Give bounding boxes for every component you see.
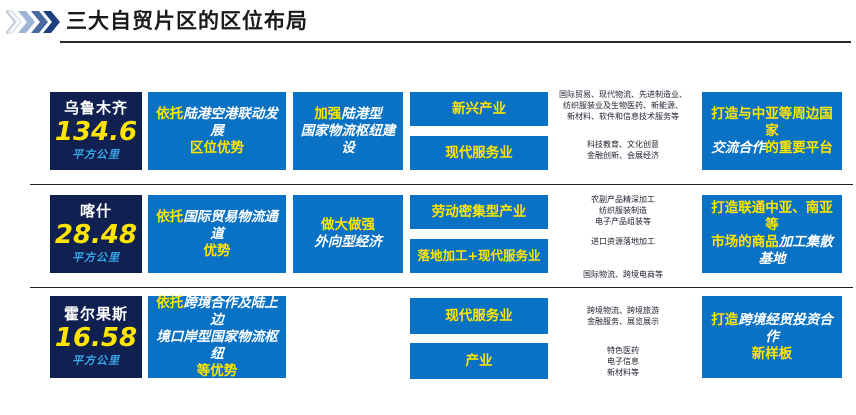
goal-mid: 交流合作 <box>711 140 765 156</box>
advantage-card-kashgar[interactable]: 依托国际贸易物流通道 优势 <box>148 195 286 273</box>
sector-card-horgos-2[interactable]: 产业 <box>410 343 548 379</box>
zone-card-horgos[interactable]: 霍尔果斯 16.58 平方公里 <box>50 296 142 378</box>
advantage-rest: 国际贸易物流通道 <box>183 209 278 242</box>
goal-lead: 打造与中亚等周边国家 <box>711 106 833 139</box>
sector-desc-horgos-1: 跨境物流、跨境旅游金融服务、展览展示 <box>548 305 698 327</box>
zone-card-urumqi[interactable]: 乌鲁木齐 134.6 平方公里 <box>50 92 142 170</box>
strategy-rest: 陆港型 <box>341 106 382 122</box>
row-separator-2 <box>30 287 853 288</box>
sector-label: 现代服务业 <box>439 145 519 162</box>
sector-desc-urumqi-2: 科技教育、文化创意金融创新、会展经济 <box>548 139 698 161</box>
strategy-line2: 国家物流枢纽建设 <box>301 123 396 156</box>
strategy-lead: 做大做强 <box>321 217 375 233</box>
zone-area-value: 16.58 <box>55 323 137 353</box>
advantage-line2: 区位优势 <box>190 140 244 156</box>
page-title: 三大自贸片区的区位布局 <box>66 6 308 36</box>
goal-tail: 新样板 <box>752 346 793 362</box>
page-header: 三大自贸片区的区位布局 <box>0 0 856 52</box>
sector-label: 新兴产业 <box>446 101 512 118</box>
goal-lead: 打造 <box>711 312 738 328</box>
zone-city-name: 喀什 <box>80 202 112 220</box>
advantage-rest: 跨境合作及陆上边 <box>183 295 278 328</box>
goal-mid: 跨境经贸投资合作 <box>738 312 833 345</box>
sector-label: 劳动密集型产业 <box>426 204 533 221</box>
sector-label: 落地加工+现代服务业 <box>412 248 547 264</box>
goal-card-urumqi[interactable]: 打造与中亚等周边国家 交流合作的重要平台 <box>702 92 842 170</box>
sector-card-kashgar-2[interactable]: 落地加工+现代服务业 <box>410 239 548 273</box>
zone-card-kashgar[interactable]: 喀什 28.48 平方公里 <box>50 195 142 273</box>
row-separator-1 <box>30 184 853 185</box>
advantage-lead: 依托 <box>156 295 183 311</box>
sector-card-horgos-1[interactable]: 现代服务业 <box>410 298 548 334</box>
advantage-card-urumqi[interactable]: 依托陆港空港联动发展 区位优势 <box>148 92 286 170</box>
strategy-card-kashgar[interactable]: 做大做强 外向型经济 <box>293 195 403 273</box>
sector-desc-kashgar-1: 农副产品精深加工纺织服装制造电子产品组装等 <box>548 194 698 227</box>
zone-city-name: 霍尔果斯 <box>64 305 128 323</box>
advantage-lead: 依托 <box>156 209 183 225</box>
strategy-line2: 外向型经济 <box>314 234 382 250</box>
strategy-card-urumqi[interactable]: 加强陆港型 国家物流枢纽建设 <box>293 92 403 170</box>
goal-tail: 的重要平台 <box>765 140 833 156</box>
advantage-line2: 境口岸型国家物流枢纽 <box>156 329 278 362</box>
zone-area-value: 134.6 <box>55 117 137 147</box>
double-chevron-right-icon <box>6 8 60 36</box>
advantage-rest: 陆港空港联动发展 <box>183 106 278 139</box>
zone-area-unit: 平方公里 <box>72 353 120 369</box>
goal-card-kashgar[interactable]: 打造联通中亚、南亚等市场的商品加工集散基地 <box>702 195 842 273</box>
zone-area-unit: 平方公里 <box>72 147 120 163</box>
advantage-line3: 等优势 <box>197 363 238 379</box>
advantage-lead: 依托 <box>156 106 183 122</box>
sector-label: 现代服务业 <box>439 308 519 325</box>
zone-area-unit: 平方公里 <box>72 250 120 266</box>
goal-card-horgos[interactable]: 打造跨境经贸投资合作 新样板 <box>702 296 842 378</box>
sector-card-kashgar-1[interactable]: 劳动密集型产业 <box>410 195 548 229</box>
sector-label: 产业 <box>460 353 499 370</box>
sector-desc-kashgar-2: 进口资源落地加工国际物流、跨境电商等 <box>548 236 698 280</box>
sector-card-urumqi-1[interactable]: 新兴产业 <box>410 92 548 126</box>
advantage-card-horgos[interactable]: 依托跨境合作及陆上边 境口岸型国家物流枢纽 等优势 <box>148 296 286 378</box>
advantage-line2: 优势 <box>204 243 231 259</box>
sector-desc-urumqi-1: 国际贸易、现代物流、先进制造业、纺织服装业及生物医药、新能源、新材料、软件和信息… <box>548 89 698 122</box>
sector-desc-horgos-2: 特色医药电子信息新材料等 <box>548 345 698 378</box>
zone-area-value: 28.48 <box>55 220 137 250</box>
zone-city-name: 乌鲁木齐 <box>64 99 128 117</box>
sector-card-urumqi-2[interactable]: 现代服务业 <box>410 136 548 170</box>
title-underline <box>60 41 851 43</box>
strategy-lead: 加强 <box>314 106 341 122</box>
